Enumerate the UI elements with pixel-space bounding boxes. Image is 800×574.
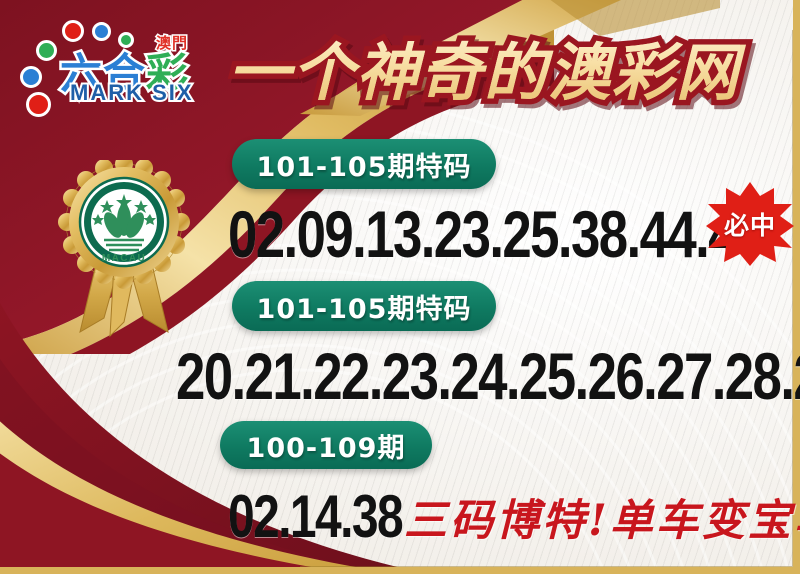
period-label-1[interactable]: 101-105期特码 <box>232 139 496 189</box>
period-label-3-text: 100-109期 <box>247 426 406 465</box>
page-title: 一个神奇的澳彩网 <box>228 22 740 112</box>
logo-dot <box>36 40 57 61</box>
slogan-text: 三码博特!单车变宝马! <box>404 486 800 548</box>
macau-emblem-badge: MACAU <box>58 160 190 338</box>
logo-dot <box>20 66 42 88</box>
period-label-2-text: 101-105期特码 <box>257 287 472 326</box>
period-label-3[interactable]: 100-109期 <box>220 421 432 469</box>
numbers-row-1: 02.09.13.23.25.38.44.45 <box>228 196 764 272</box>
logo-macau-text: 澳門 <box>156 32 188 53</box>
mark-six-logo[interactable]: 六合彩 MARK SIX 澳門 <box>14 18 210 110</box>
numbers-row-3: 02.14.38 <box>228 482 402 551</box>
logo-dot <box>26 92 51 117</box>
must-hit-burst-text: 必中 <box>706 182 794 266</box>
logo-dot <box>92 22 111 41</box>
emblem-latin-text: MACAU <box>102 253 146 264</box>
numbers-row-2: 20.21.22.23.24.25.26.27.28.29 <box>176 338 800 414</box>
logo-dot <box>62 20 84 42</box>
period-label-2[interactable]: 101-105期特码 <box>232 281 496 331</box>
period-label-1-text: 101-105期特码 <box>257 145 472 184</box>
logo-mark-six-text: MARK SIX <box>70 80 194 106</box>
lottery-poster: 六合彩 MARK SIX 澳門 <box>0 0 800 574</box>
